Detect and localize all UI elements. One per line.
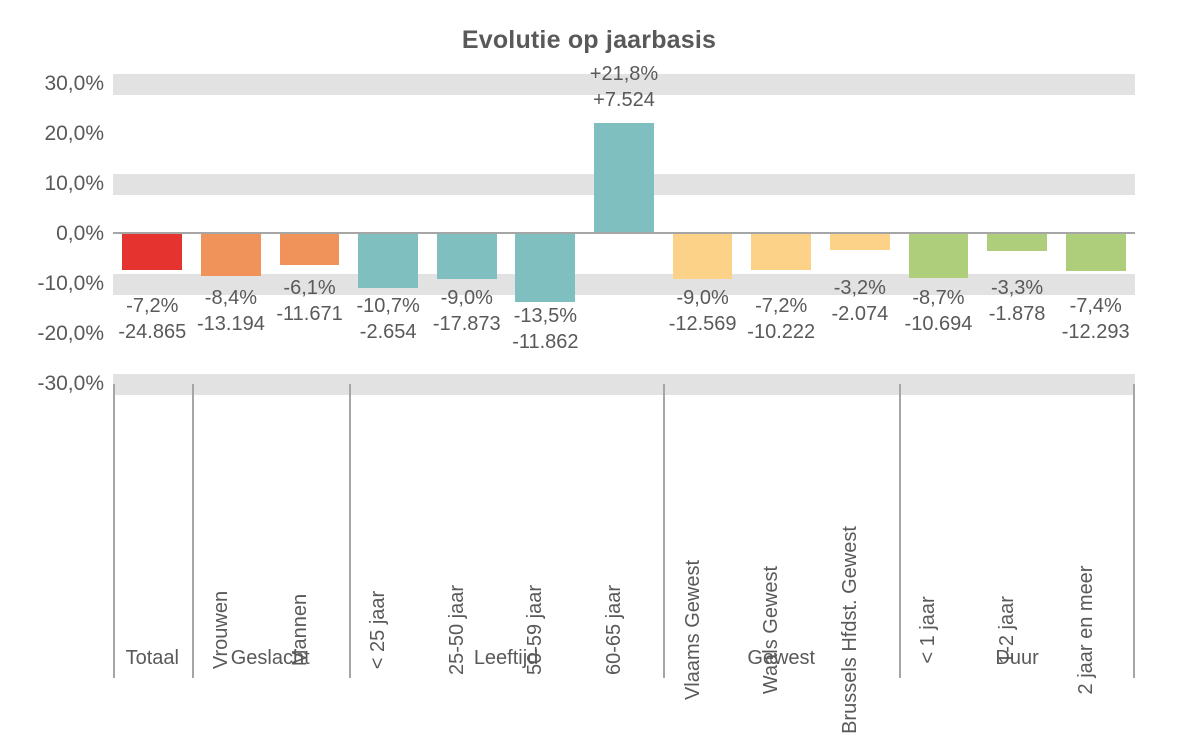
data-label-percent: -7,2% xyxy=(126,296,178,317)
bar-chart: Evolutie op jaarbasis 30,0%20,0%10,0%0,0… xyxy=(0,0,1178,718)
plot-area xyxy=(113,84,1135,384)
data-label-percent: -9,0% xyxy=(676,288,728,309)
group-label: Duur xyxy=(899,647,1135,670)
category-cell: 50-59 jaar xyxy=(506,384,585,630)
data-label-percent: -6,1% xyxy=(283,278,335,299)
data-label-absolute: -11.671 xyxy=(276,304,342,325)
bar[interactable] xyxy=(437,234,497,279)
bar[interactable] xyxy=(122,234,182,270)
category-cell: Brussels Hfdst. Gewest xyxy=(821,384,900,630)
data-label-absolute: -17.873 xyxy=(433,314,501,335)
group-separator xyxy=(113,384,115,678)
bar[interactable] xyxy=(358,234,418,288)
bar[interactable] xyxy=(594,123,654,232)
data-label-absolute: -2.654 xyxy=(360,322,417,343)
data-label-absolute: -1.878 xyxy=(989,304,1046,325)
y-axis-labels: 30,0%20,0%10,0%0,0%-10,0%-20,0%-30,0% xyxy=(0,84,104,384)
bar-slot xyxy=(663,84,742,384)
bar-slot xyxy=(192,84,271,384)
bar[interactable] xyxy=(1066,234,1126,271)
group-separator xyxy=(899,384,901,678)
data-label-absolute: -2.074 xyxy=(831,304,888,325)
bar-slot xyxy=(270,84,349,384)
bar-slot xyxy=(585,84,664,384)
category-axis: TotaalVrouwenMannen< 25 jaar25-50 jaar50… xyxy=(113,384,1135,678)
bar[interactable] xyxy=(280,234,340,265)
category-label: Brussels Hfdst. Gewest xyxy=(840,526,860,734)
zero-axis-line xyxy=(113,232,1135,234)
data-label-percent: +21,8% xyxy=(590,64,658,85)
y-axis-tick-label: 30,0% xyxy=(0,72,104,96)
chart-title: Evolutie op jaarbasis xyxy=(0,26,1178,55)
data-label-percent: -13,5% xyxy=(514,306,577,327)
data-label-percent: -8,7% xyxy=(912,288,964,309)
y-axis-tick-label: 10,0% xyxy=(0,172,104,196)
data-label-absolute: -24.865 xyxy=(118,322,186,343)
bar-slot xyxy=(821,84,900,384)
group-label: Gewest xyxy=(663,647,899,670)
category-cell: Vlaams Gewest xyxy=(663,384,742,630)
group-label: Geslacht xyxy=(192,647,349,670)
data-label-percent: -3,2% xyxy=(834,278,886,299)
category-cell: Waals Gewest xyxy=(742,384,821,630)
data-label-absolute: -11.862 xyxy=(512,332,578,353)
data-label-absolute: -12.293 xyxy=(1062,322,1130,343)
category-cell: 1-2 jaar xyxy=(978,384,1057,630)
category-cell: Mannen xyxy=(270,384,349,630)
bar-slot xyxy=(978,84,1057,384)
group-label: Totaal xyxy=(113,647,192,670)
data-label-absolute: +7.524 xyxy=(593,90,655,111)
category-cell: < 25 jaar xyxy=(349,384,428,630)
data-label-percent: -7,4% xyxy=(1070,296,1122,317)
category-cell: 2 jaar en meer xyxy=(1056,384,1135,630)
data-label-percent: -7,2% xyxy=(755,296,807,317)
bar-slot xyxy=(899,84,978,384)
category-cell: Vrouwen xyxy=(192,384,271,630)
bar[interactable] xyxy=(751,234,811,270)
data-label-absolute: -12.569 xyxy=(669,314,737,335)
bar[interactable] xyxy=(909,234,969,278)
category-cell: < 1 jaar xyxy=(899,384,978,630)
data-label-absolute: -10.694 xyxy=(905,314,973,335)
category-cell: Totaal xyxy=(113,384,192,630)
data-label-percent: -3,3% xyxy=(991,278,1043,299)
data-label-absolute: -13.194 xyxy=(197,314,265,335)
bar[interactable] xyxy=(673,234,733,279)
group-separator xyxy=(1133,384,1135,678)
group-separator xyxy=(192,384,194,678)
bar[interactable] xyxy=(201,234,261,276)
category-cell: 60-65 jaar xyxy=(585,384,664,630)
data-label-percent: -8,4% xyxy=(205,288,257,309)
y-axis-tick-label: -20,0% xyxy=(0,322,104,346)
group-label: Leeftijd xyxy=(349,647,663,670)
group-separator xyxy=(663,384,665,678)
data-label-absolute: -10.222 xyxy=(747,322,815,343)
category-label: Vlaams Gewest xyxy=(683,560,703,700)
bar-slot xyxy=(427,84,506,384)
group-separator xyxy=(349,384,351,678)
data-label-percent: -10,7% xyxy=(356,296,419,317)
bar-series xyxy=(113,84,1135,384)
bar[interactable] xyxy=(830,234,890,250)
data-label-percent: -9,0% xyxy=(441,288,493,309)
y-axis-tick-label: 0,0% xyxy=(0,222,104,246)
y-axis-tick-label: -10,0% xyxy=(0,272,104,296)
y-axis-tick-label: 20,0% xyxy=(0,122,104,146)
category-cell: 25-50 jaar xyxy=(427,384,506,630)
bar[interactable] xyxy=(987,234,1047,251)
category-label: 2 jaar en meer xyxy=(1076,566,1096,695)
bar[interactable] xyxy=(515,234,575,302)
y-axis-tick-label: -30,0% xyxy=(0,372,104,396)
category-label: Waals Gewest xyxy=(761,566,781,694)
